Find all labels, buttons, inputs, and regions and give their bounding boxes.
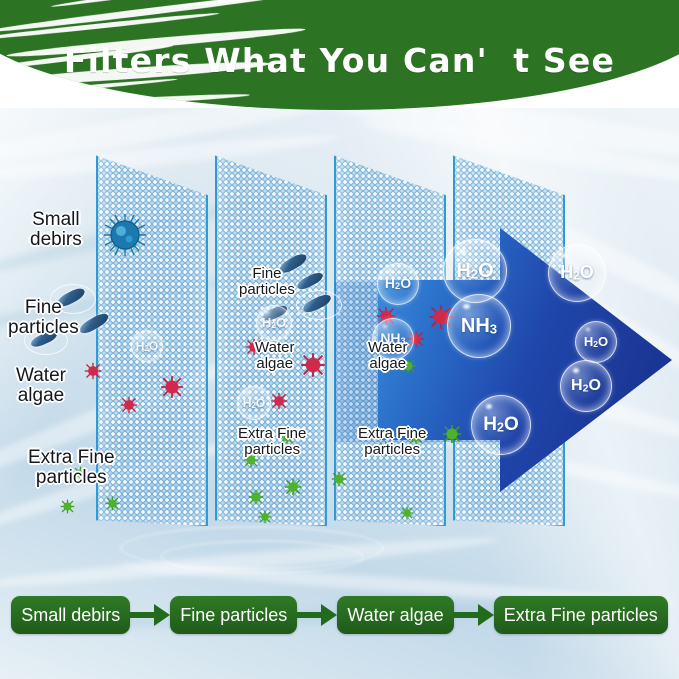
particle-water-algae (160, 375, 184, 399)
bubble-highlight (573, 368, 579, 373)
annotation-fine-particles: Fineparticles (8, 298, 79, 338)
bubble-highlight (459, 249, 466, 255)
annotation-line: Water (255, 340, 294, 356)
arrow-head (154, 604, 170, 626)
annotation-extra-fine-particles: Extra Fineparticles (358, 426, 426, 458)
legend-chip-label: Small debirs (21, 605, 120, 626)
particle-water-algae (270, 392, 288, 410)
annotation-line: Fine (239, 266, 295, 282)
annotation-line: Small (30, 210, 82, 230)
annotation-line: debirs (30, 230, 82, 250)
bubble-h2o: H2O (131, 330, 163, 362)
bubble-highlight (265, 311, 269, 314)
bubble-h2o: H2O (560, 360, 612, 412)
legend-chip-3[interactable]: Water algae (337, 596, 453, 634)
annotation-line: particles (8, 318, 79, 338)
annotation-line: particles (358, 442, 426, 458)
annotation-line: particles (239, 282, 295, 298)
arrow-shaft (454, 612, 480, 618)
particle-extra-fine (442, 424, 462, 444)
infographic-canvas: Filters What You Can' t See (0, 0, 679, 679)
bubble-label: H2O (584, 335, 608, 349)
legend-chip-label: Fine particles (180, 605, 287, 626)
arrow-head (478, 604, 494, 626)
page-title: Filters What You Can' t See (0, 41, 679, 80)
particle-water-algae (84, 362, 102, 380)
bubble-highlight (383, 325, 387, 329)
bubble-label: H2O (483, 415, 519, 434)
bubble-highlight (388, 270, 392, 274)
bubble-label: H2O (262, 316, 286, 330)
bubble-label: NH3 (461, 316, 497, 336)
particle-extra-fine (105, 496, 120, 511)
bubble-highlight (586, 328, 590, 332)
annotation-line: algae (368, 356, 407, 372)
legend-arrow-icon-3 (454, 604, 494, 626)
particle-water-algae (300, 352, 326, 378)
legend-chip-label: Water algae (347, 605, 443, 626)
annotation-line: particles (238, 442, 306, 458)
legend-flow: Small debirsFine particlesWater algaeExt… (0, 592, 679, 638)
particle-small-debris (102, 212, 148, 258)
legend-arrow-icon-1 (130, 604, 170, 626)
bubble-label: H2O (571, 378, 601, 394)
particle-extra-fine (331, 471, 347, 487)
particle-extra-fine (60, 499, 75, 514)
annotation-line: particles (28, 468, 115, 488)
bubble-highlight (562, 253, 568, 258)
particle-fine-halo (296, 290, 342, 320)
bubble-label: H2O (560, 263, 594, 282)
bubble-label: H2O (456, 261, 493, 281)
annotation-line: Extra Fine (358, 426, 426, 442)
bubble-h2o: H2O (471, 395, 531, 455)
bubble-h2o: H2O (575, 321, 617, 363)
bubble-h2o: H2O (256, 305, 292, 341)
arrow-head (321, 604, 337, 626)
particle-water-algae (120, 396, 138, 414)
bubble-label: H2O (385, 276, 411, 291)
bubble-highlight (486, 404, 492, 409)
annotation-line: Extra Fine (238, 426, 306, 442)
legend-chip-label: Extra Fine particles (504, 605, 658, 626)
annotation-line: Fine (8, 298, 79, 318)
annotation-line: Extra Fine (28, 448, 115, 468)
arrow-shaft (130, 612, 156, 618)
annotation-line: Water (16, 366, 66, 386)
particle-extra-fine (284, 478, 302, 496)
legend-chip-2[interactable]: Fine particles (170, 596, 297, 634)
annotation-line: algae (16, 386, 66, 406)
bubble-label: H2O (243, 397, 265, 410)
bubble-label: H2O (136, 340, 158, 353)
annotation-extra-fine-particles: Extra Fineparticles (238, 426, 306, 458)
annotation-water-algae: Wateralgae (16, 366, 66, 406)
annotation-extra-fine-particles: Extra Fineparticles (28, 448, 115, 488)
annotation-small-debris: Smalldebirs (30, 210, 82, 250)
legend-arrow-icon-2 (297, 604, 337, 626)
arrow-shaft (297, 612, 323, 618)
particle-extra-fine (258, 510, 272, 524)
bubble-highlight (246, 391, 250, 394)
bubble-nh3: NH3 (447, 294, 511, 358)
bubble-h2o: H2O (548, 244, 606, 302)
annotation-water-algae: Wateralgae (368, 340, 407, 372)
particle-extra-fine (248, 489, 264, 505)
annotation-line: algae (255, 356, 294, 372)
legend-chip-1[interactable]: Small debirs (11, 596, 130, 634)
particle-extra-fine (400, 506, 414, 520)
legend-chip-4[interactable]: Extra Fine particles (494, 596, 668, 634)
bubble-highlight (139, 335, 142, 338)
annotation-water-algae: Wateralgae (255, 340, 294, 372)
bubble-highlight (463, 304, 470, 310)
annotation-fine-particles: Fineparticles (239, 266, 295, 298)
bubble-h2o: H2O (377, 263, 419, 305)
annotation-line: Water (368, 340, 407, 356)
bubble-h2o: H2O (237, 386, 271, 420)
